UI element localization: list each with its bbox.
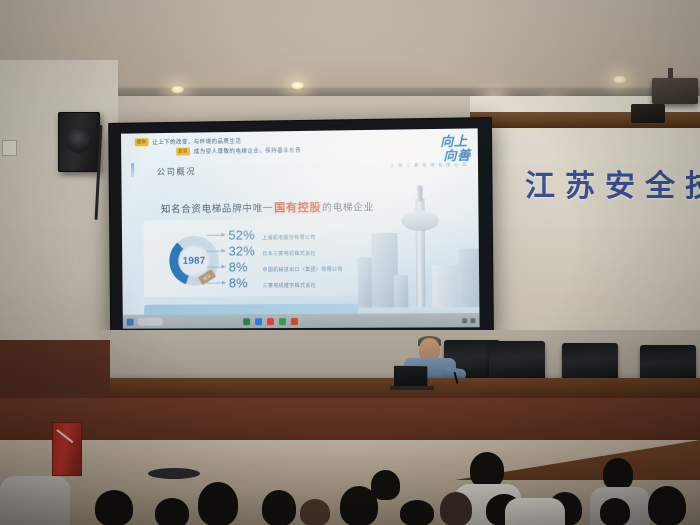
search-input[interactable] [137,318,163,326]
audience-shoulders [0,476,70,525]
slide-title: 公司概况 [157,165,197,177]
laptop [394,366,427,388]
stage-chair [562,343,618,381]
arrow-icon [207,267,225,268]
windows-taskbar[interactable] [123,313,480,329]
shareholder-percent: 8% [229,275,258,290]
right-wall [470,96,700,346]
taskbar-app-icons[interactable] [243,318,298,325]
building [458,249,479,310]
skyline-illustration [357,166,480,328]
tray-icon[interactable] [470,318,475,323]
audience-head [648,486,686,525]
tray-icon[interactable] [462,318,467,323]
wall-sign-char: 江 [525,161,556,205]
start-icon[interactable] [127,318,134,325]
wall-plate [2,140,17,156]
fire-extinguisher-cabinet [52,422,82,476]
brand-logo: 向上 向善 上 海 三 菱 电 梯 有 限 公 司 [390,135,468,169]
projection-screen: 向上 向善 上 海 三 菱 电 梯 有 限 公 司 公司概况 知名合资电梯品牌中… [108,117,494,335]
arrow-icon [207,282,225,283]
ceiling-lamp [170,86,185,94]
audience-head [470,452,504,488]
wall-sign-char: 苏 [565,161,596,205]
app-icon[interactable] [267,318,274,325]
shareholder-name: 中国机械进出口（集团）有限公司 [262,266,342,274]
lecture-hall-photo: 江 苏 安 全 技 向上 向善 上 海 三 菱 电 梯 有 限 公 司 公司概况 [0,0,700,525]
mission-text: 让上下的改变，与环境的品质生活 [152,137,241,146]
wall-sign-char: 技 [685,161,700,205]
arrow-icon [207,251,225,252]
floor-cable [148,468,200,479]
shareholder-percent: 52% [228,227,257,242]
building [357,257,372,309]
mission-line: 使命 让上下的改变，与环境的品质生活 [135,137,241,146]
audience-head [198,482,238,525]
audience-head [262,490,296,525]
app-icon[interactable] [243,318,250,325]
audience-head [300,499,330,525]
building [394,275,408,309]
vision-badge: 愿景 [176,148,190,156]
arrow-icon [207,235,225,236]
headline-highlight: 国有控股 [273,202,322,215]
app-icon[interactable] [255,318,262,325]
audience-head [400,500,434,525]
app-icon[interactable] [291,318,298,325]
screen-surface: 向上 向善 上 海 三 菱 电 梯 有 限 公 司 公司概况 知名合资电梯品牌中… [121,128,480,328]
wall-sign: 江 苏 安 全 技 [525,160,700,206]
shareholder-percent: 8% [229,259,258,274]
shareholder-name: 上海机电股份有限公司 [262,234,315,241]
tower-sphere [401,211,439,232]
laptop-base [390,386,434,390]
audience-head [95,490,133,525]
mission-badge: 使命 [135,138,149,146]
logo-line-2: 向善 [390,148,471,163]
wall-wood-rail [470,112,700,128]
app-icon[interactable] [279,318,286,325]
projector-lens [631,104,665,123]
audience-head [340,486,378,525]
ceiling-lamp [290,82,305,90]
audience-head [155,498,189,525]
audience-head [440,492,472,525]
shareholder-name: 三菱电机楼宇株式会社 [263,282,316,289]
audience-head [603,458,633,490]
vision-text: 成为受人尊敬的电梯企业，保持基业长青 [194,146,301,155]
wall-sign-char: 全 [645,161,676,205]
shareholder-percent: 32% [228,243,257,258]
wall-speaker [58,112,100,172]
stage-chair [489,341,545,379]
slide-headline: 知名合资电梯品牌中唯一国有控股的电梯企业 [161,198,374,216]
ceiling-projector [652,78,698,104]
audience-head [600,498,630,525]
shareholder-name: 日本三菱电机株式会社 [262,250,315,257]
title-accent-bar [131,163,134,177]
ceiling-lamp [612,76,627,84]
tower-antenna [417,186,422,202]
headline-prefix: 知名合资电梯品牌中唯一 [161,203,273,215]
wall-sign-char: 安 [605,161,636,205]
vision-line: 愿景 成为受人尊敬的电梯企业，保持基业长青 [176,146,301,156]
presentation-slide: 向上 向善 上 海 三 菱 电 梯 有 限 公 司 公司概况 知名合资电梯品牌中… [121,128,480,328]
system-tray[interactable] [462,318,475,323]
audience-shoulders [505,498,565,525]
